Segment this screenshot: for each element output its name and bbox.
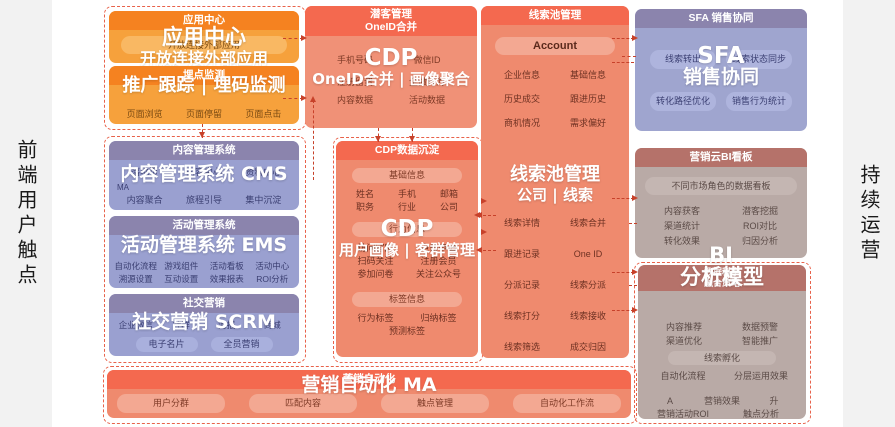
cdp-item: 注册会员 (407, 255, 470, 267)
arrow-account-out (622, 56, 636, 57)
bi-model-item: 升 (748, 395, 800, 407)
right-rail-pinch (821, 0, 843, 427)
cdp-oneid-item: 活动数据 (391, 94, 463, 106)
arrow-leadpool-in-1 (481, 198, 487, 204)
arrow-lead-to-bimodel-2-head (632, 307, 638, 313)
cdp-oneid-header-line2: OneID合并 (305, 21, 477, 34)
bi-board-item: 归因分析 (721, 235, 799, 247)
right-rail: 持续运营 (843, 0, 895, 427)
account-item: 企业信息 (489, 69, 555, 81)
cms-item: 落地页 (115, 166, 174, 178)
cdp-oneid-item: 企微行为 (391, 76, 463, 88)
card-bi-board-header: 营销云BI看板 (635, 148, 807, 167)
lead-item: 线索筛选 (489, 341, 555, 353)
card-cdp-sediment-header: CDP数据沉淀 (336, 141, 478, 160)
cdp-item: 手机 (386, 188, 428, 200)
card-app-center-pill: 开放连接外部应用 (121, 36, 287, 54)
tracking-item: 页面点击 (234, 108, 293, 120)
account-item: 需求偏好 (555, 117, 621, 129)
card-cdp-oneid[interactable]: 潜客管理 OneID合并 手机号码 微信ID 注册留资 企微行为 内容数据 活动… (305, 6, 477, 128)
cdp-item: 点击申请 (407, 242, 470, 254)
cms-item: 内容聚合 (115, 194, 174, 206)
card-scrm-header: 社交营销 (109, 294, 299, 313)
cdp-oneid-item: 注册留资 (319, 76, 391, 88)
scrm-item: 商城 (250, 319, 296, 331)
card-app-center-header: 应用中心 (109, 11, 299, 30)
ma-item: 自动化工作流 (513, 394, 621, 413)
bi-board-item: 转化效果 (643, 235, 721, 247)
card-sfa[interactable]: SFA 销售协同 线索转出 线索状态同步 转化路径优化 销售行为统计 (635, 9, 807, 131)
card-tracking-header: 埋点监测 (109, 66, 299, 85)
card-bi-board[interactable]: 营销云BI看板 不同市场角色的数据看板 内容获客 潜客挖掘 渠道统计 ROI对比… (635, 148, 807, 258)
lead-item: 线索打分 (489, 310, 555, 322)
bi-model-item: 营销活动ROI (644, 408, 722, 419)
cdp-group-label: 标签信息 (352, 292, 462, 307)
arrow-tracking-to-cdp (283, 98, 303, 99)
lead-item: 线索合并 (555, 217, 621, 229)
arrow-frontend-up-head (310, 96, 316, 102)
ma-item: 用户分群 (117, 394, 225, 413)
cms-ghost: MA (117, 182, 129, 194)
card-bi-model[interactable]: 数据科学 融合策略 内容推荐 数据预警 渠道优化 智能推广 线索孵化 自动化流程… (638, 265, 806, 419)
lead-item: 线索接收 (555, 310, 621, 322)
scrm-item: 海报 (204, 319, 250, 331)
left-rail-pinch (52, 0, 74, 427)
tracking-item: 页面浏览 (115, 108, 174, 120)
cdp-oneid-item: 手机号码 (319, 54, 391, 66)
card-ems-header: 活动管理系统 (109, 216, 299, 235)
account-item: 商机情况 (489, 117, 555, 129)
card-scrm[interactable]: 社交营销 企业微信 社群 海报 商城 电子名片 全员营销 (109, 294, 299, 356)
arrow-lead-to-bi-head (632, 195, 638, 201)
card-ma-header: 营销自动化 (107, 370, 631, 389)
left-rail: 前端用户触点 (0, 0, 52, 427)
scrm-item: 全员营销 (211, 337, 273, 352)
bi-model-item: 分层运用效果 (722, 371, 800, 382)
card-cms-header: 内容管理系统 (109, 141, 299, 160)
account-item: 历史成交 (489, 93, 555, 105)
diagram-canvas: 前端用户触点 持续运营 应用中心 开放连接外部应用 应用中心 开放连接外部应用 … (0, 0, 895, 427)
cdp-oneid-item: 微信ID (391, 54, 463, 66)
arrow-lead-to-bimodel-2 (612, 310, 634, 311)
arrow-tracking-down-head (199, 132, 205, 138)
cdp-group-label: 基础信息 (352, 168, 462, 183)
lead-item: 成交归因 (555, 341, 621, 353)
arrow-cdp-to-lead-3-head (476, 247, 482, 253)
left-rail-label: 前端用户触点 (16, 139, 36, 289)
arrow-cdp-down-1-head (375, 136, 381, 142)
card-cdp-sediment[interactable]: CDP数据沉淀 基础信息 姓名 手机 邮箱 职务 行业 公司 行为信息 访问官网… (336, 141, 478, 357)
bi-model-item: 渠道优化 (646, 335, 722, 347)
card-marketing-automation[interactable]: 营销自动化 用户分群 匹配内容 触点管理 自动化工作流 (107, 370, 631, 418)
ems-item: 溯源设置 (113, 273, 159, 285)
arrow-app-to-cdp-head (301, 35, 307, 41)
cdp-oneid-item: 内容数据 (319, 94, 391, 106)
cms-item: 集中沉淀 (234, 194, 293, 206)
card-lead-pool[interactable]: 线索池管理 Account 企业信息 基础信息 历史成交 跟进历史 商机情况 需… (481, 6, 629, 358)
bi-model-item: 自动化流程 (644, 371, 722, 382)
cdp-oneid-header-line1: 潜客管理 (305, 8, 477, 21)
account-item: 基础信息 (555, 69, 621, 81)
right-rail-label: 持续运营 (859, 164, 879, 264)
cdp-item: 邮箱 (428, 188, 470, 200)
lead-item: 线索详情 (489, 217, 555, 229)
cdp-item: 职务 (344, 201, 386, 213)
cms-item: 旅程引导 (174, 194, 233, 206)
account-item: 跟进历史 (555, 93, 621, 105)
bi-board-item: ROI对比 (721, 220, 799, 232)
arrow-lead-to-bimodel (612, 272, 634, 273)
cdp-group-label: 行为信息 (352, 222, 462, 237)
arrow-cdp-to-lead-2-head (476, 212, 482, 218)
bi-model-item: 触点分析 (722, 408, 800, 419)
cdp-item: 公司 (428, 201, 470, 213)
scrm-item: 社群 (159, 319, 205, 331)
cdp-item: 扫码关注 (344, 255, 407, 267)
sfa-item: 转化路径优化 (650, 92, 716, 111)
ems-item: ROI分析 (250, 273, 296, 285)
sfa-item: 线索状态同步 (726, 50, 792, 69)
tracking-item: 页面停留 (174, 108, 233, 120)
lead-item: 线索分派 (555, 279, 621, 291)
bi-model-item: 数据预警 (722, 321, 798, 333)
arrow-tracking-to-cdp-head (301, 95, 307, 101)
arrow-frontend-up (313, 100, 314, 180)
cdp-item: 预测标签 (344, 325, 470, 337)
ems-item: 互动设置 (159, 273, 205, 285)
card-cdp-oneid-header: 潜客管理 OneID合并 (305, 6, 477, 36)
lead-item: 分派记录 (489, 279, 555, 291)
cdp-item: 关注公众号 (407, 268, 470, 280)
cdp-item: 行业 (386, 201, 428, 213)
bi-model-header-line1: 数据科学 (638, 267, 806, 278)
bi-board-item: 内容获客 (643, 205, 721, 217)
lead-item: One ID (555, 248, 621, 260)
scrm-item: 企业微信 (113, 319, 159, 331)
card-tracking[interactable]: 埋点监测 页面浏览 页面停留 页面点击 (109, 66, 299, 124)
account-label: Account (495, 37, 615, 55)
bi-model-header-line2: 融合策略 (638, 278, 806, 289)
bi-board-item: 渠道统计 (643, 220, 721, 232)
cms-item: 资料中心 (234, 166, 293, 178)
ems-item: 活动中心 (250, 260, 296, 272)
card-ems[interactable]: 活动管理系统 自动化流程 游戏组件 活动看板 活动中心 溯源设置 互动设置 效果… (109, 216, 299, 288)
arrow-lead-to-sfa (612, 38, 634, 39)
arrow-lead-to-bi (612, 198, 634, 199)
cms-item: 内容中心 (174, 166, 233, 178)
arrow-lead-detail-out (629, 223, 637, 224)
card-sfa-header: SFA 销售协同 (635, 9, 807, 28)
bi-board-item: 潜客挖掘 (721, 205, 799, 217)
ems-item: 自动化流程 (113, 260, 159, 272)
bi-model-item: 智能推广 (722, 335, 798, 347)
cdp-item: 姓名 (344, 188, 386, 200)
arrow-lead-to-sfa-head (632, 35, 638, 41)
arrow-lead-score-out (629, 285, 637, 286)
card-app-center[interactable]: 应用中心 开放连接外部应用 (109, 11, 299, 63)
ems-item: 活动看板 (204, 260, 250, 272)
arrow-cdp-down-2-head (409, 136, 415, 142)
arrow-app-to-cdp (283, 38, 303, 39)
ems-item: 游戏组件 (159, 260, 205, 272)
bi-model-item: 内容推荐 (646, 321, 722, 333)
cdp-item: 参加问卷 (344, 268, 407, 280)
ma-item: 匹配内容 (249, 394, 357, 413)
card-cms[interactable]: 内容管理系统 落地页 内容中心 资料中心 MA 内容聚合 旅程引导 集中沉淀 (109, 141, 299, 210)
card-lead-pool-header: 线索池管理 (481, 6, 629, 25)
arrow-lead-to-bimodel-head (632, 269, 638, 275)
cdp-item: 归纳标签 (407, 312, 470, 324)
card-bi-model-header: 数据科学 融合策略 (638, 265, 806, 291)
bi-model-item: 营销效果 (696, 395, 748, 407)
bi-model-pill: 线索孵化 (668, 351, 776, 365)
sfa-item: 线索转出 (650, 50, 716, 69)
cdp-item: 行为标签 (344, 312, 407, 324)
ems-item: 效果报表 (204, 273, 250, 285)
bi-board-pill: 不同市场角色的数据看板 (645, 177, 797, 195)
bi-model-item: A (644, 395, 696, 407)
scrm-item: 电子名片 (136, 337, 198, 352)
cdp-item: 访问官网 (344, 242, 407, 254)
lead-item: 跟进记录 (489, 248, 555, 260)
sfa-item: 销售行为统计 (726, 92, 792, 111)
arrow-lead-to-sfa-2 (612, 62, 634, 63)
ma-item: 触点管理 (381, 394, 489, 413)
arrow-leadpool-in-2 (481, 229, 487, 235)
